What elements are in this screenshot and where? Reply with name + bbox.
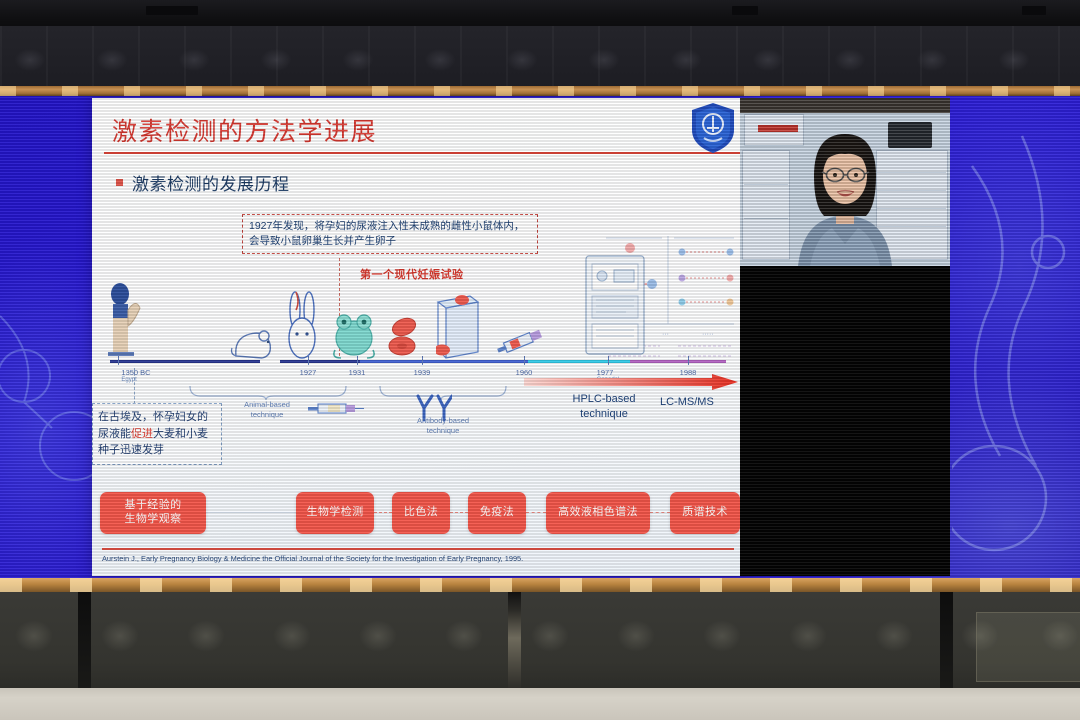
- chip-connector: [450, 512, 468, 514]
- methodology-progression-row: 基于经验的 生物学观察 生物学检测 比色法 免疫法 高效液相色谱法 质谱技术: [100, 492, 748, 534]
- chip-connector: [526, 512, 546, 514]
- chip-connector: [374, 512, 392, 514]
- antibody-technique-label: Antibody-based technique: [404, 416, 482, 436]
- lcms-technique-label: LC-MS/MS: [660, 396, 714, 408]
- timeline-year-label: 1931: [349, 368, 366, 377]
- chip-mass-spectrometry[interactable]: 质谱技术: [670, 492, 740, 534]
- timeline-tick: [688, 356, 689, 365]
- speaker-portrait: [792, 124, 898, 266]
- presentation-slide: 激素检测的方法学进展 激素检测的发展历程 1927年发现，将孕妇的尿液注入性未成…: [92, 98, 752, 576]
- stage-floor: [0, 688, 1080, 720]
- remote-speaker-panel: [740, 98, 950, 576]
- chip-experience-based-observation[interactable]: 基于经验的 生物学观察: [100, 492, 206, 534]
- conference-hall-photo: 激素检测的方法学进展 激素检测的发展历程 1927年发现，将孕妇的尿液注入性未成…: [0, 0, 1080, 720]
- rabbit-icon: [282, 290, 322, 360]
- chip-label: 比色法: [404, 506, 438, 520]
- syringe-brace-icon: [306, 398, 364, 418]
- egyptian-woman-wheat-icon: [104, 280, 144, 360]
- led-video-wall: 激素检测的方法学进展 激素检测的发展历程 1927年发现，将孕妇的尿液注入性未成…: [0, 96, 1080, 578]
- chip-label: 基于经验的 生物学观察: [125, 499, 182, 527]
- lower-wall-panels: [0, 592, 1080, 692]
- chip-connector: [650, 512, 670, 514]
- cabinet-left: [742, 150, 790, 260]
- citation-rule: [102, 548, 734, 550]
- timeline-year-label: 1927: [300, 368, 317, 377]
- ancient-egypt-callout: 在古埃及，怀孕妇女的尿液能促进大麦和小麦种子迅速发芽: [92, 403, 222, 465]
- egypt-text-highlight: 促进: [131, 428, 153, 440]
- remote-speaker-video-feed[interactable]: [740, 98, 950, 266]
- bullet-label: 激素检测的发展历程: [132, 170, 290, 195]
- first-modern-test-label: 第一个现代妊娠试验: [360, 266, 464, 282]
- slide-bullet: 激素检测的发展历程: [116, 170, 290, 195]
- chip-label: 生物学检测: [307, 506, 364, 520]
- lcms-instrument-icon: [578, 250, 652, 360]
- title-underline: [104, 152, 740, 154]
- shelf-line: [744, 184, 788, 185]
- wall-molecule-decor-right: [952, 126, 1080, 566]
- discovery-callout: 1927年发现，将孕妇的尿液注入性未成熟的雌性小鼠体内，会导致小鼠卵巢生长并产生…: [242, 214, 538, 254]
- bullet-square-icon: [116, 179, 123, 186]
- timeline-year-label: 1350 BC Egypt: [121, 368, 150, 383]
- access-panel: [976, 612, 1080, 682]
- timeline-year-label: 1939: [414, 368, 431, 377]
- upper-wood-trim: [0, 86, 1080, 96]
- lower-wood-trim: [0, 578, 1080, 592]
- doorway-gap: [508, 592, 521, 692]
- chip-hplc[interactable]: 高效液相色谱法: [546, 492, 650, 534]
- wall-seam-right: [940, 592, 953, 692]
- progress-arrow: [524, 374, 738, 390]
- animal-technique-label: Animal-based technique: [228, 400, 306, 420]
- ceiling-track-light: [146, 6, 198, 15]
- svg-text:···: ···: [662, 331, 669, 338]
- chip-label: 免疫法: [480, 506, 514, 520]
- ceiling-track-light: [1022, 6, 1046, 15]
- chip-bioassay[interactable]: 生物学检测: [296, 492, 374, 534]
- chip-colorimetry[interactable]: 比色法: [392, 492, 450, 534]
- institution-shield-logo: [690, 102, 736, 154]
- frog-icon: [332, 306, 376, 360]
- citation-text: Aurstein J., Early Pregnancy Biology & M…: [102, 554, 523, 563]
- svg-text:·····: ·····: [702, 331, 714, 338]
- mouse-icon: [230, 320, 274, 360]
- chip-label: 质谱技术: [682, 506, 728, 520]
- hplc-technique-label: HPLC-based technique: [562, 392, 646, 422]
- upper-wall-panels: [0, 26, 1080, 88]
- video-panel-letterbox: [740, 266, 950, 576]
- syringe-sample-icon: [496, 322, 548, 360]
- shelf-line: [744, 218, 788, 219]
- assay-cuvette-icon: [436, 288, 488, 360]
- chip-label: 高效液相色谱法: [558, 506, 638, 520]
- blood-cells-icon: [384, 314, 424, 360]
- chip-connector: [206, 512, 296, 514]
- wall-seam-left: [78, 592, 91, 692]
- timeline-axis: [110, 360, 726, 363]
- ceiling-track-light: [732, 6, 758, 15]
- page-title: 激素检测的方法学进展: [112, 112, 377, 148]
- chip-immunoassay[interactable]: 免疫法: [468, 492, 526, 534]
